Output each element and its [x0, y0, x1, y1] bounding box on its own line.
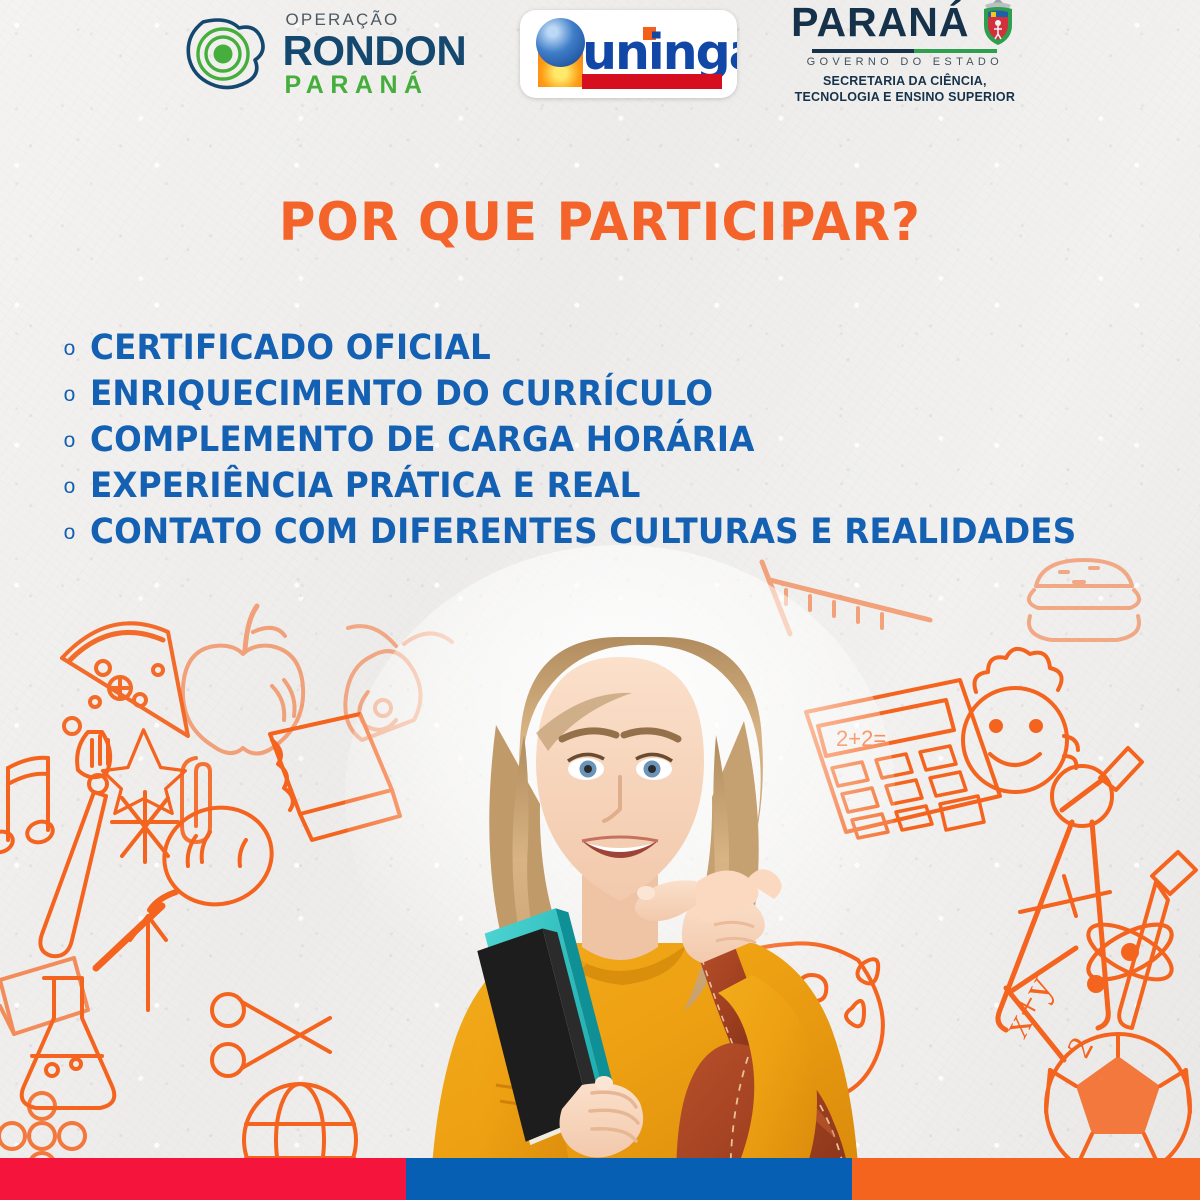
benefit-label: CERTIFICADO OFICIAL [90, 328, 491, 368]
list-item: o CERTIFICADO OFICIAL [62, 325, 1151, 371]
rondon-title: RONDON [282, 30, 466, 72]
list-item: o EXPERIÊNCIA PRÁTICA E REAL [62, 463, 1151, 509]
bullet-circle-icon: o [62, 384, 77, 405]
colorbar-segment-blue [406, 1158, 852, 1200]
poster-canvas: 2+2= [0, 0, 1200, 1200]
bullet-circle-icon: o [62, 476, 77, 497]
colorbar-segment-orange [852, 1158, 1200, 1200]
benefits-list: o CERTIFICADO OFICIAL o ENRIQUECIMENTO D… [62, 325, 1151, 555]
bottom-color-bar [0, 1158, 1200, 1200]
music-notes-icon [0, 758, 55, 856]
list-item: o CONTATO COM DIFERENTES CULTURAS E REAL… [62, 509, 1151, 555]
logo-operacao-rondon-parana: OPERAÇÃO RONDON PARANÁ [181, 11, 466, 98]
soccer-ball-icon [1046, 1034, 1190, 1178]
math-formula-icon: x+y 2 [992, 948, 1101, 1064]
pencil-icon [1119, 852, 1196, 1028]
rondon-state-target-icon [181, 14, 269, 94]
parana-department: SECRETARIA DA CIÊNCIA, TECNOLOGIA E ENSI… [795, 73, 1015, 105]
paintbrush-icon [40, 732, 110, 956]
benefit-label: EXPERIÊNCIA PRÁTICA E REAL [90, 466, 641, 506]
parana-department-line1: SECRETARIA DA CIÊNCIA, [823, 74, 987, 88]
parana-title: PARANÁ [791, 3, 969, 42]
student-photo [300, 545, 940, 1200]
star-icon [103, 730, 186, 862]
arrow-icon [130, 916, 166, 1010]
parana-coat-of-arms-icon [977, 0, 1019, 47]
svg-text:x+y: x+y [992, 968, 1061, 1044]
uninga-sphere-icon [536, 18, 585, 67]
list-item: o COMPLEMENTO DE CARGA HORÁRIA [62, 417, 1151, 463]
pizza-slice-icon [62, 623, 188, 736]
benefit-label: ENRIQUECIMENTO DO CURRÍCULO [90, 374, 713, 414]
parana-subtitle: GOVERNO DO ESTADO [807, 56, 1003, 68]
rondon-eyebrow: OPERAÇÃO [285, 11, 466, 28]
benefit-label: CONTATO COM DIFERENTES CULTURAS E REALID… [90, 512, 1076, 552]
bullet-circle-icon: o [62, 522, 77, 543]
book-icon [0, 958, 88, 1034]
colorbar-segment-red [0, 1158, 406, 1200]
smiley-face-icon [963, 649, 1078, 792]
benefit-label: COMPLEMENTO DE CARGA HORÁRIA [90, 420, 755, 460]
logo-governo-do-parana: PARANÁ GOVERNO DO ESTADO SECRETARIA DA C… [791, 3, 1018, 105]
rondon-subtitle: PARANÁ [284, 73, 466, 98]
uninga-wordmark: uningá [582, 24, 737, 81]
bullet-circle-icon: o [62, 430, 77, 451]
list-item: o ENRIQUECIMENTO DO CURRÍCULO [62, 371, 1151, 417]
logo-uninga: uningá [520, 10, 737, 98]
page-title: POR QUE PARTICIPAR? [36, 192, 1164, 253]
uninga-red-bar [582, 74, 722, 89]
logo-bar: OPERAÇÃO RONDON PARANÁ uningá PARANÁ [0, 0, 1200, 108]
bullet-circle-icon: o [62, 338, 77, 359]
parana-department-line2: TECNOLOGIA E ENSINO SUPERIOR [795, 90, 1015, 104]
flask-icon [22, 978, 115, 1108]
parana-divider-rule [812, 49, 997, 53]
hamburger-icon [1029, 560, 1139, 640]
